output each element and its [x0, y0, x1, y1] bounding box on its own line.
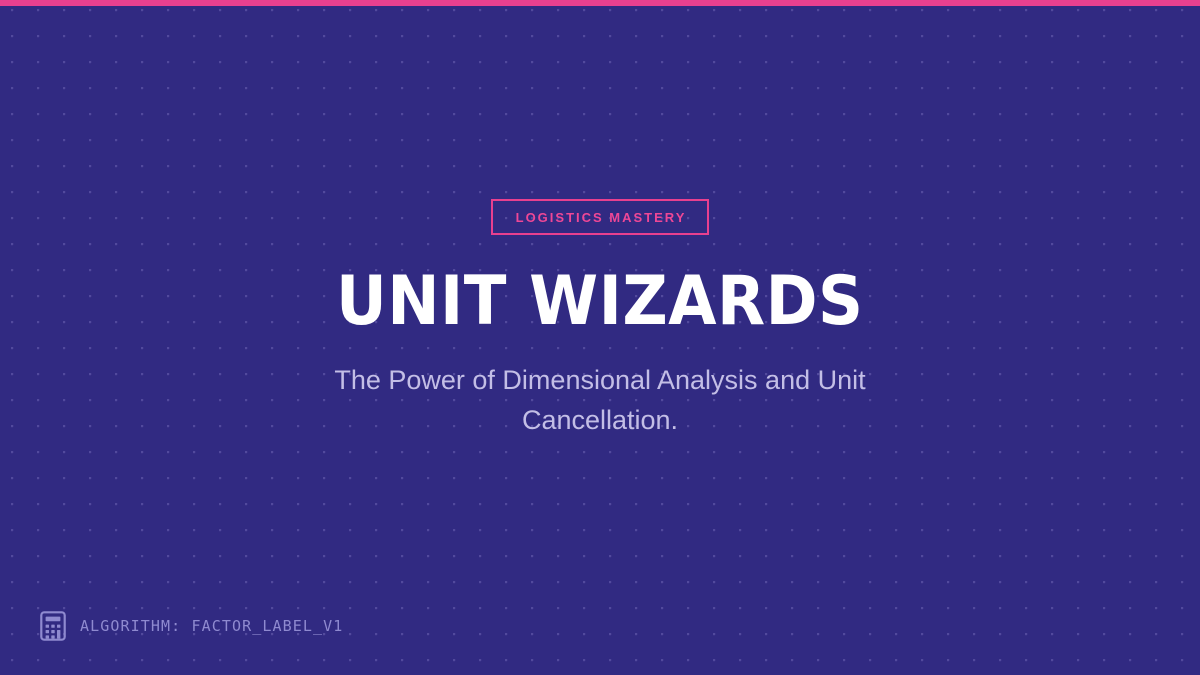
title-slide: LOGISTICS MASTERY UNIT WIZARDS The Power…	[0, 0, 1200, 675]
slide-subtitle: The Power of Dimensional Analysis and Un…	[330, 360, 870, 440]
footer: ALGORITHM: FACTOR_LABEL_V1	[40, 611, 343, 641]
top-accent-bar	[0, 0, 1200, 6]
page-title: UNIT WIZARDS	[336, 268, 864, 336]
slide-content: LOGISTICS MASTERY UNIT WIZARDS The Power…	[0, 0, 1200, 675]
footer-algorithm-label: ALGORITHM: FACTOR_LABEL_V1	[80, 619, 343, 634]
calculator-icon	[40, 611, 66, 641]
eyebrow-badge: LOGISTICS MASTERY	[491, 199, 710, 235]
